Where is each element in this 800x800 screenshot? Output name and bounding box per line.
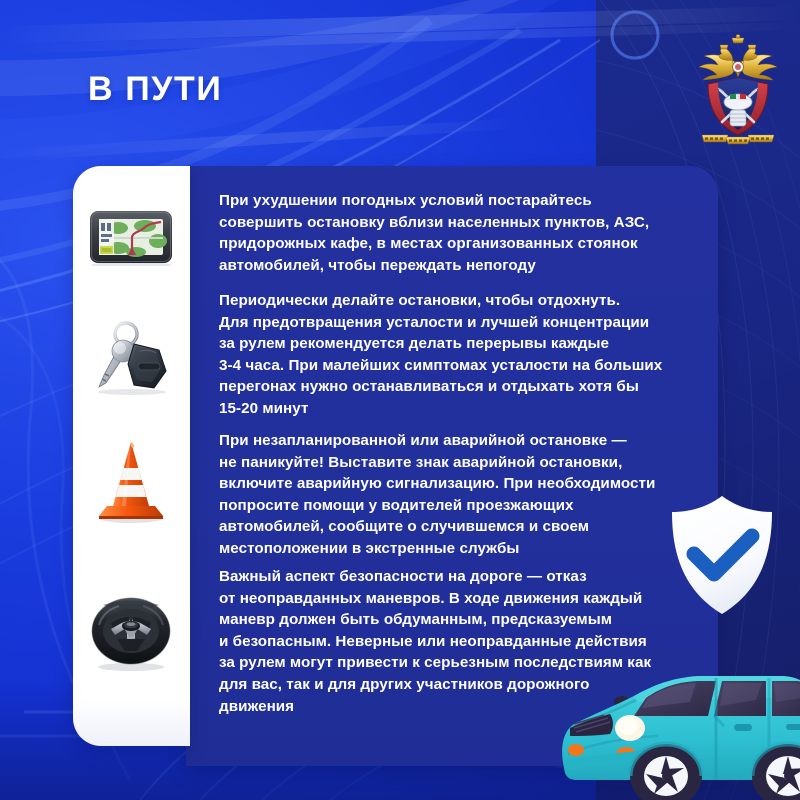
steering-wheel-icon xyxy=(89,595,173,671)
list-item-text-1: Периодически делайте остановки, чтобы от… xyxy=(219,290,697,420)
icon-column xyxy=(73,166,190,746)
list-item-icon-2 xyxy=(81,438,181,524)
infographic-poster: В ПУТИ xyxy=(0,0,800,800)
list-item-icon-1 xyxy=(81,314,181,400)
list-item-text-2: При незапланированной или аварийной оста… xyxy=(219,430,697,560)
shield-check-icon xyxy=(664,492,780,618)
mvd-gibdd-emblem-icon xyxy=(692,34,784,146)
traffic-cone-icon xyxy=(93,438,169,524)
car-suv-illustration xyxy=(548,658,800,800)
list-item-icon-3 xyxy=(81,590,181,676)
page-title: В ПУТИ xyxy=(88,70,222,109)
gps-navigator-icon xyxy=(88,208,174,266)
list-item-text-0: При ухудшении погодных условий постарайт… xyxy=(219,190,697,276)
list-item-icon-0 xyxy=(81,194,181,280)
car-key-icon xyxy=(90,319,172,395)
